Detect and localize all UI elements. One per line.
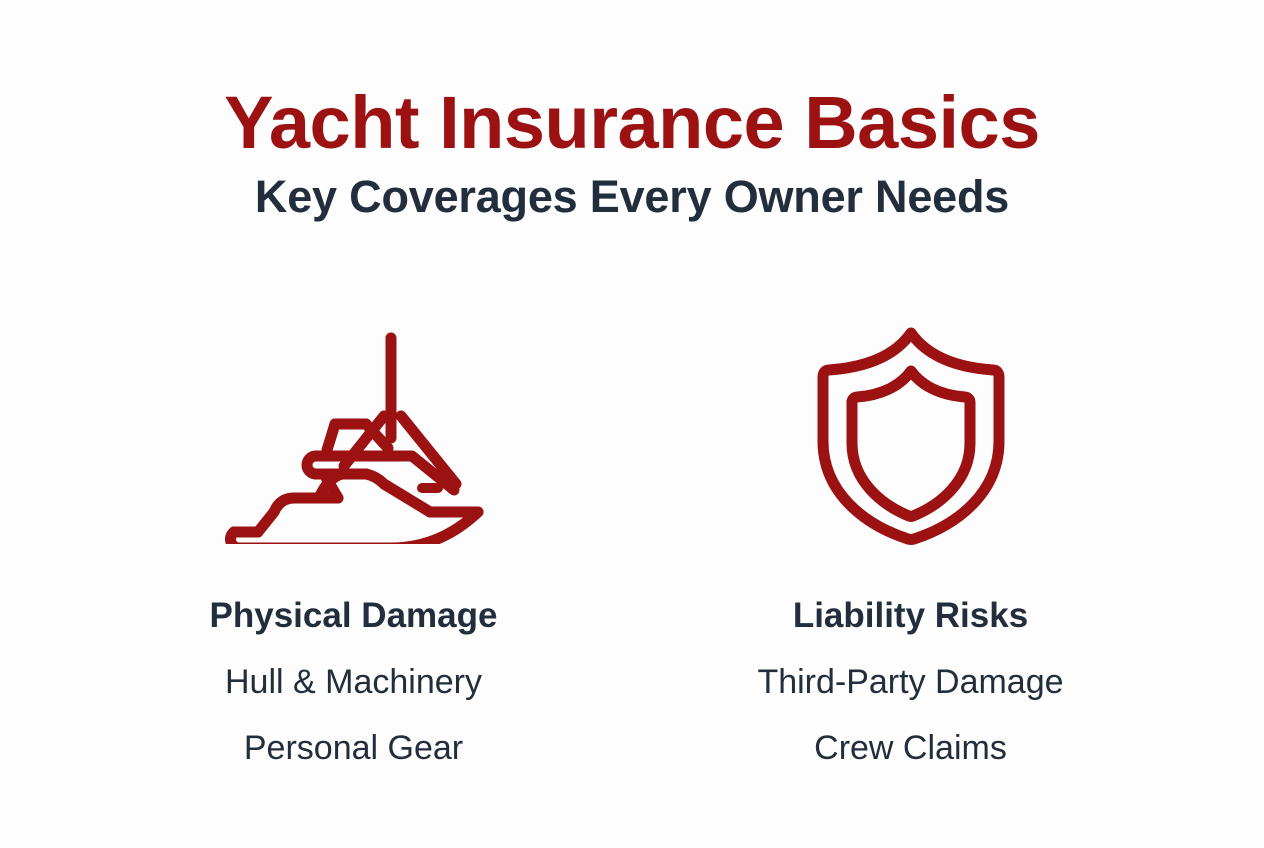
coverage-item: Crew Claims [757, 731, 1063, 765]
coverage-item-list-liability-risks: Third-Party Damage Crew Claims [757, 633, 1063, 765]
coverage-item: Personal Gear [225, 731, 482, 765]
coverage-item: Third-Party Damage [757, 665, 1063, 699]
page-title: Yacht Insurance Basics [0, 86, 1264, 160]
page-subtitle: Key Coverages Every Owner Needs [0, 174, 1264, 219]
header: Yacht Insurance Basics Key Coverages Eve… [0, 86, 1264, 219]
infographic-canvas: Yacht Insurance Basics Key Coverages Eve… [0, 0, 1264, 848]
coverage-heading-liability-risks: Liability Risks [793, 598, 1028, 633]
coverage-item: Hull & Machinery [225, 665, 482, 699]
coverage-columns: Physical Damage Hull & Machinery Persona… [0, 320, 1264, 765]
coverage-item-list-physical-damage: Hull & Machinery Personal Gear [225, 633, 482, 765]
yacht-icon [214, 320, 494, 550]
coverage-column-physical-damage: Physical Damage Hull & Machinery Persona… [144, 320, 564, 765]
coverage-heading-physical-damage: Physical Damage [210, 598, 498, 633]
shield-icon [771, 320, 1051, 550]
coverage-column-liability-risks: Liability Risks Third-Party Damage Crew … [701, 320, 1121, 765]
